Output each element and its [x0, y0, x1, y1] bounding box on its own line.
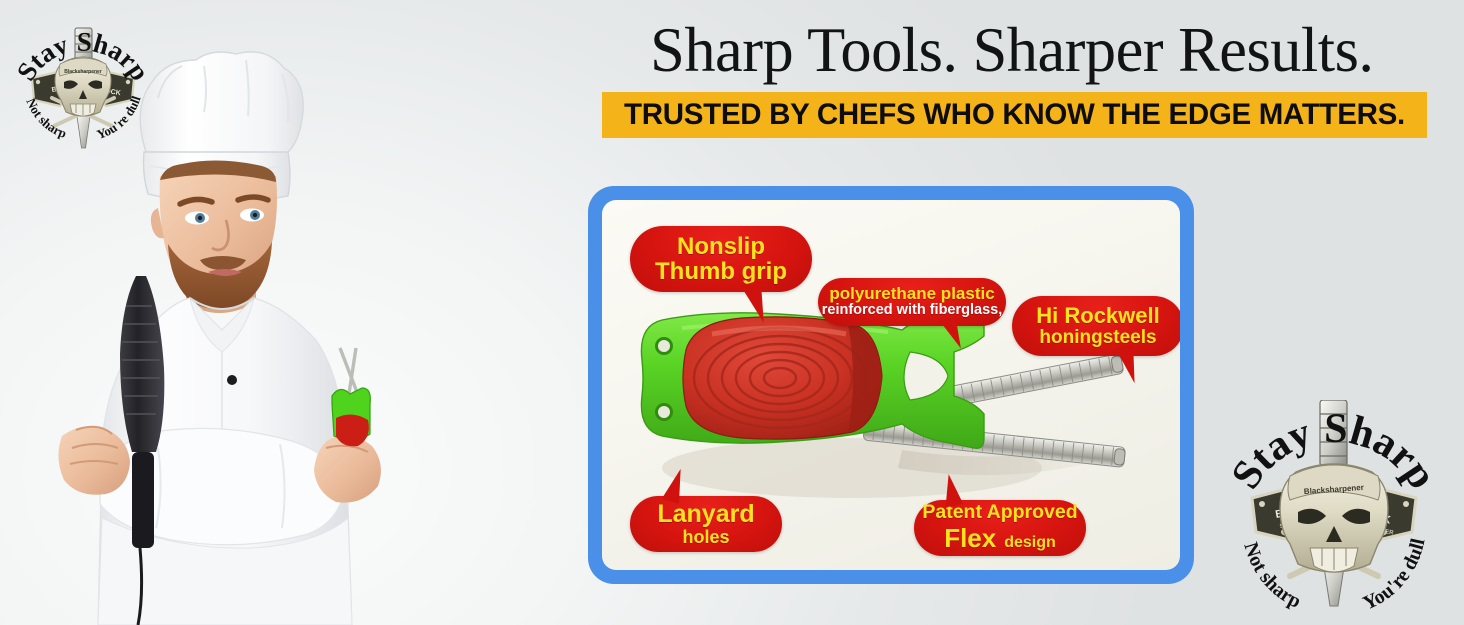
- callout-polyurethane-plastic: polyurethane plastic reinforced with fib…: [818, 278, 1006, 326]
- chef-sharpener-product: [332, 348, 370, 446]
- callout-flex-word: Flex: [944, 523, 996, 554]
- logo-skull-icon: Blacksharpener: [1280, 464, 1388, 572]
- callout-line-1: Lanyard: [657, 501, 754, 527]
- callout-patent-approved-flex-design: Patent Approved Flex design: [914, 500, 1086, 556]
- brand-logo-bottom-right: BLOCK SHARPENER ROCK SHARPENER Blackshar…: [1218, 400, 1450, 622]
- chef-face: [151, 160, 277, 309]
- subheadline-text: TRUSTED BY CHEFS WHO KNOW THE EDGE MATTE…: [602, 92, 1427, 138]
- callout-line-2: honingsteels: [1039, 328, 1156, 348]
- callout-line-2-row: Flex design: [944, 523, 1056, 554]
- headline-block: Sharp Tools. Sharper Results.: [596, 18, 1436, 82]
- callout-lanyard-holes: Lanyard holes: [630, 496, 782, 552]
- sharpener-red-grip: [683, 317, 882, 439]
- callout-nonslip-thumb-grip: Nonslip Thumb grip: [630, 226, 812, 292]
- coat-button: [227, 375, 237, 385]
- chef-photo: [40, 48, 420, 625]
- callout-line-2: reinforced with fiberglass,: [822, 303, 1003, 318]
- callout-line-1: Hi Rockwell: [1036, 304, 1159, 327]
- promo-banner: BLOCK ROCK Blacksharpener: [0, 0, 1464, 625]
- chef-right-hand: [314, 436, 381, 503]
- callout-line-1: Nonslip: [677, 234, 765, 259]
- product-showcase-panel: Nonslip Thumb grip polyurethane plastic …: [588, 186, 1194, 584]
- callout-hi-rockwell-honingsteels: Hi Rockwell honingsteels: [1012, 296, 1180, 356]
- callout-line-2: Thumb grip: [655, 259, 787, 284]
- callout-line-1: polyurethane plastic: [829, 285, 994, 303]
- callout-design-word: design: [1004, 534, 1056, 552]
- callout-line-2: holes: [682, 528, 729, 547]
- page-title: Sharp Tools. Sharper Results.: [596, 18, 1428, 82]
- product-inner-panel: Nonslip Thumb grip polyurethane plastic …: [602, 200, 1180, 570]
